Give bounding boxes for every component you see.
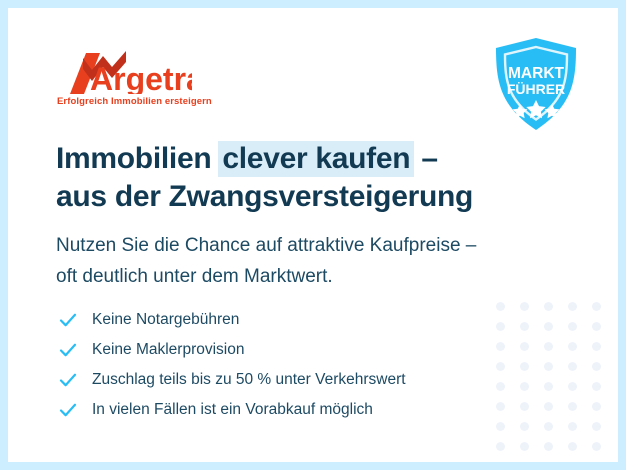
badge-line1: MARKT [508, 65, 564, 82]
list-item: Keine Maklerprovision [58, 335, 406, 365]
decorative-dot [536, 436, 560, 456]
subheading-line-1: Nutzen Sie die Chance auf attraktive Kau… [56, 230, 476, 261]
decorative-dot [488, 416, 512, 436]
decorative-dot [536, 416, 560, 436]
decorative-dot [584, 416, 608, 436]
check-icon [58, 310, 78, 330]
logo-tagline: Erfolgreich Immobilien ersteigern [57, 96, 212, 107]
decorative-dot [512, 296, 536, 316]
decorative-dot [560, 416, 584, 436]
decorative-dot [584, 356, 608, 376]
headline-line1-before: Immobilien [56, 142, 219, 175]
decorative-dot [512, 336, 536, 356]
decorative-dot [560, 316, 584, 336]
decorative-dot [512, 436, 536, 456]
decorative-dot [512, 416, 536, 436]
argetra-logo[interactable]: Argetra Erfolgreich Immobilien ersteiger… [56, 48, 212, 107]
decorative-dot [536, 376, 560, 396]
subheading-line-2: oft deutlich unter dem Marktwert. [56, 261, 476, 292]
decorative-dot [536, 296, 560, 316]
list-item-label: Zuschlag teils bis zu 50 % unter Verkehr… [92, 371, 406, 389]
shield-icon: MARKT FÜHRER [492, 36, 580, 132]
page-title: Immobilien clever kaufen – aus der Zwang… [56, 140, 473, 216]
headline-line-1: Immobilien clever kaufen – [56, 140, 473, 178]
decorative-dot [512, 396, 536, 416]
decorative-dot [560, 396, 584, 416]
market-leader-badge: MARKT FÜHRER [492, 36, 580, 132]
check-icon [58, 370, 78, 390]
subheading: Nutzen Sie die Chance auf attraktive Kau… [56, 230, 476, 292]
banner-card: Argetra Erfolgreich Immobilien ersteiger… [8, 8, 618, 462]
decorative-dot [488, 336, 512, 356]
headline-line1-after: – [413, 142, 437, 175]
decorative-dot [584, 296, 608, 316]
list-item: In vielen Fällen ist ein Vorabkauf mögli… [58, 395, 406, 425]
check-icon [58, 400, 78, 420]
decorative-dot [536, 396, 560, 416]
decorative-dot [536, 316, 560, 336]
list-item-label: In vielen Fällen ist ein Vorabkauf mögli… [92, 401, 373, 419]
decorative-dot [584, 376, 608, 396]
decorative-dot [560, 376, 584, 396]
decorative-dot [488, 396, 512, 416]
list-item-label: Keine Notargebühren [92, 311, 239, 329]
decorative-dot [512, 376, 536, 396]
decorative-dot [560, 296, 584, 316]
svg-text:Argetra: Argetra [90, 61, 192, 94]
decorative-dot [488, 296, 512, 316]
decorative-dot [584, 336, 608, 356]
decorative-dot [536, 356, 560, 376]
check-icon [58, 340, 78, 360]
decorative-dot [560, 336, 584, 356]
decorative-dot [560, 356, 584, 376]
decorative-dot [488, 356, 512, 376]
headline-line-2: aus der Zwangsversteigerung [56, 178, 473, 216]
decorative-dot [488, 436, 512, 456]
decorative-dot [488, 376, 512, 396]
list-item-label: Keine Maklerprovision [92, 341, 245, 359]
decorative-dot [584, 396, 608, 416]
argetra-roof-mark-icon: Argetra [56, 48, 192, 94]
decorative-dot [584, 316, 608, 336]
badge-line2: FÜHRER [507, 81, 565, 97]
decorative-dot [488, 316, 512, 336]
decorative-dot [512, 356, 536, 376]
decorative-dot [584, 436, 608, 456]
decorative-dot [512, 316, 536, 336]
logo-mark-row: Argetra [56, 48, 212, 94]
decorative-dot [560, 436, 584, 456]
list-item: Zuschlag teils bis zu 50 % unter Verkehr… [58, 365, 406, 395]
headline-highlight: clever kaufen [218, 141, 414, 177]
decorative-dot [536, 336, 560, 356]
decorative-dot-grid [488, 296, 608, 456]
promo-banner: Argetra Erfolgreich Immobilien ersteiger… [0, 0, 626, 470]
benefits-list: Keine NotargebührenKeine Maklerprovision… [58, 305, 406, 425]
list-item: Keine Notargebühren [58, 305, 406, 335]
